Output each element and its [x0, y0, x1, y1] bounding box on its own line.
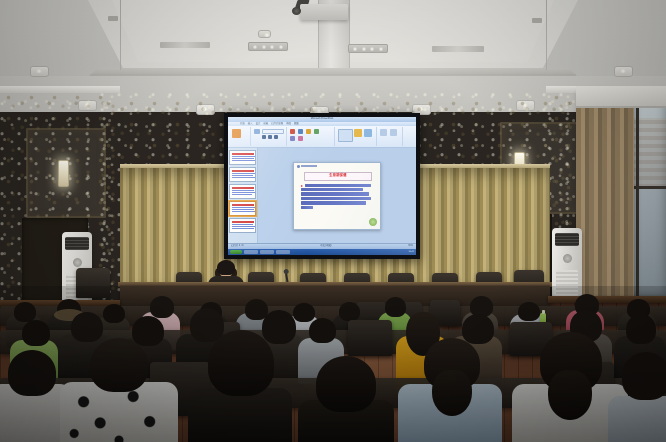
slide-title-text: 生育期保健 [329, 174, 346, 177]
slide-thumbnail[interactable] [229, 184, 256, 199]
slide-text-line [301, 192, 369, 195]
language-status: 中文(中国) [320, 245, 331, 247]
ac-vent-icon [556, 270, 578, 297]
projected-image: Microsoft PowerPoint 开始 插入 设计 动画 幻灯片放映 审… [228, 117, 416, 255]
ceiling-downlight [614, 66, 633, 77]
slide-corner-graphic [369, 218, 377, 226]
ceiling-vent [532, 18, 542, 23]
ac-knob-icon [563, 254, 572, 263]
ceiling-seam [90, 74, 576, 75]
slide-thumbnail[interactable] [229, 150, 256, 165]
replace-icon[interactable] [390, 129, 397, 136]
ribbon-tab[interactable]: 开始 [240, 123, 245, 125]
ceiling-projector [300, 4, 348, 20]
ceiling-light-bar [248, 42, 288, 51]
font-box-icon[interactable] [254, 129, 260, 134]
ceiling-light-strip [432, 46, 484, 52]
text-direction-icon[interactable] [298, 136, 303, 141]
theatre-seat[interactable] [348, 320, 392, 356]
slide-text-line [301, 197, 371, 200]
slide-thumbnail[interactable] [229, 218, 256, 233]
ceiling-seam [120, 0, 121, 70]
slide-text-line [305, 184, 371, 187]
align-center-icon[interactable] [314, 129, 319, 134]
current-slide[interactable]: 生育期保健 [293, 162, 381, 230]
taskbar-item[interactable] [244, 250, 258, 254]
ceiling-light-strip [160, 42, 210, 48]
quick-styles-icon[interactable] [364, 129, 372, 137]
wall-sconce [58, 160, 69, 187]
align-left-icon[interactable] [306, 129, 311, 134]
wall-trim [0, 86, 120, 93]
slide-thumbnail-pane[interactable] [228, 148, 258, 243]
start-button[interactable] [230, 250, 242, 254]
ribbon-tab[interactable]: 插入 [248, 123, 253, 125]
lecture-hall-photo: Microsoft PowerPoint 开始 插入 设计 动画 幻灯片放映 审… [0, 0, 666, 442]
ceiling-light-bar [348, 44, 388, 53]
powerpoint-window: Microsoft PowerPoint 开始 插入 设计 动画 幻灯片放映 审… [228, 117, 416, 255]
powerpoint-window-title: Microsoft PowerPoint [311, 118, 334, 120]
taskbar-item[interactable] [260, 250, 274, 254]
bold-icon[interactable] [262, 135, 266, 139]
slide-thumbnail[interactable] [229, 167, 256, 182]
zoom-level[interactable]: 66% [408, 245, 413, 247]
shapes-gallery-icon[interactable] [338, 129, 353, 142]
window-curtain[interactable] [576, 92, 634, 307]
projection-screen[interactable]: Microsoft PowerPoint 开始 插入 设计 动画 幻灯片放映 审… [224, 113, 420, 259]
slide-editing-area[interactable]: 生育期保健 [258, 148, 416, 243]
ribbon-group [288, 127, 335, 146]
projector-lens-icon [292, 7, 301, 15]
taskbar-item[interactable] [276, 250, 290, 254]
presenter-hair-top [217, 260, 235, 275]
slide-body-text [301, 184, 373, 211]
ac-grill-icon [555, 233, 579, 246]
taskbar-clock: 10:42 [409, 251, 414, 253]
bullets-icon[interactable] [290, 129, 295, 134]
underline-icon[interactable] [274, 135, 278, 139]
ribbon-tab[interactable]: 视图 [294, 123, 299, 125]
slide-position-status: 幻灯片 4 / 9 [231, 245, 244, 247]
ribbon-tab[interactable]: 设计 [256, 123, 261, 125]
ceiling-vent [108, 16, 118, 21]
slide-title-box: 生育期保健 [304, 172, 372, 181]
slide-header-logo [297, 165, 317, 168]
ceiling-downlight [258, 30, 271, 38]
ceiling-downlight [30, 66, 49, 77]
font-name-box[interactable] [262, 129, 284, 134]
arrange-icon[interactable] [354, 129, 362, 137]
ribbon-toolbar [228, 126, 416, 148]
stage-chair[interactable] [76, 268, 110, 298]
slide-text-line [301, 206, 313, 209]
ribbon-tab[interactable]: 审阅 [286, 123, 291, 125]
ceiling-seam [546, 0, 547, 70]
slide-text-line [301, 201, 366, 204]
ac-grill-icon [65, 237, 89, 250]
windows-taskbar: 10:42 [228, 249, 416, 255]
find-icon[interactable] [380, 129, 387, 136]
line-spacing-icon[interactable] [290, 136, 295, 141]
ac-knob-icon [73, 258, 82, 267]
ribbon-tab[interactable]: 动画 [263, 123, 268, 125]
ribbon-tab[interactable]: 幻灯片放映 [271, 123, 283, 125]
curtain-valance [576, 86, 666, 108]
side-railing [548, 296, 666, 303]
bullet-arrow-icon [301, 185, 303, 187]
paste-icon[interactable] [232, 129, 241, 138]
numbering-icon[interactable] [298, 129, 303, 134]
powerpoint-workspace: 生育期保健 [228, 148, 416, 243]
air-conditioner-right[interactable] [552, 228, 582, 302]
slide-text-line [301, 188, 363, 191]
window-mullion [636, 96, 639, 296]
italic-icon[interactable] [268, 135, 272, 139]
slide-thumbnail-selected[interactable] [229, 201, 256, 216]
